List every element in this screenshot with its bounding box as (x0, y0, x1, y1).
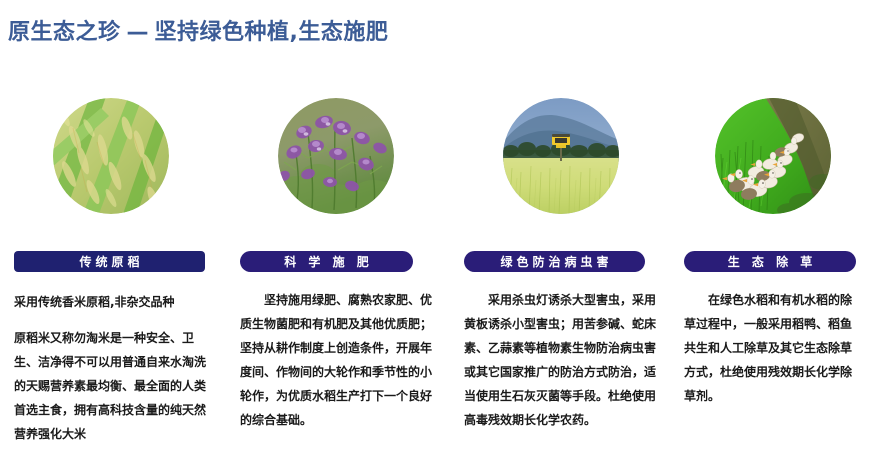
ducks-in-paddy-field-photo (715, 98, 831, 214)
paragraph: 采用传统香米原稻,非杂交品种 (14, 290, 208, 314)
page-title: 原生态之珍—坚持绿色种植,生态施肥 (8, 20, 388, 46)
badge-green-pest-control: 绿色防治病虫害 (464, 251, 645, 272)
feature-column-green-pest-control: 绿色防治病虫害 采用杀虫灯诱杀大型害虫，采用黄板诱杀小型害虫；用苦参碱、蛇床素、… (446, 66, 672, 459)
feature-column-traditional-rice: 传统原稻 采用传统香米原稻,非杂交品种 原稻米又称勿淘米是一种安全、卫生、洁净得… (0, 66, 222, 459)
badge-row: 科 学 施 肥 (240, 246, 432, 276)
badge-row: 传统原稻 (14, 246, 208, 276)
rice-field-insect-lamp-photo (503, 98, 619, 214)
photo-wrap (464, 66, 658, 246)
photo-wrap (14, 66, 208, 246)
badge-row: 绿色防治病虫害 (464, 246, 658, 276)
photo-wrap (240, 66, 432, 246)
body-copy-scientific-fertilizing: 坚持施用绿肥、腐熟农家肥、优质生物菌肥和有机肥及其他优质肥；坚持从耕作制度上创造… (240, 288, 432, 432)
page-title-right: 坚持绿色种植,生态施肥 (155, 20, 389, 45)
body-copy-traditional-rice: 采用传统香米原稻,非杂交品种 原稻米又称勿淘米是一种安全、卫生、洁净得不可以用普… (14, 290, 208, 446)
badge-eco-weeding: 生 态 除 草 (684, 251, 856, 272)
feature-column-scientific-fertilizing: 科 学 施 肥 坚持施用绿肥、腐熟农家肥、优质生物菌肥和有机肥及其他优质肥；坚持… (222, 66, 446, 459)
page-title-dash: — (121, 20, 155, 45)
body-copy-eco-weeding: 在绿色水稻和有机水稻的除草过程中，一般采用稻鸭、稻鱼共生和人工除草及其它生态除草… (684, 288, 862, 408)
page-title-left: 原生态之珍 (8, 20, 121, 45)
photo-wrap (684, 66, 862, 246)
paragraph: 在绿色水稻和有机水稻的除草过程中，一般采用稻鸭、稻鱼共生和人工除草及其它生态除草… (684, 288, 862, 408)
paragraph: 采用杀虫灯诱杀大型害虫，采用黄板诱杀小型害虫；用苦参碱、蛇床素、乙蒜素等植物素生… (464, 288, 658, 432)
purple-vetch-green-manure-photo (278, 98, 394, 214)
badge-row: 生 态 除 草 (684, 246, 862, 276)
badge-scientific-fertilizing: 科 学 施 肥 (240, 251, 413, 272)
body-copy-green-pest-control: 采用杀虫灯诱杀大型害虫，采用黄板诱杀小型害虫；用苦参碱、蛇床素、乙蒜素等植物素生… (464, 288, 658, 432)
paragraph: 原稻米又称勿淘米是一种安全、卫生、洁净得不可以用普通自来水淘洗的天赐营养素最均衡… (14, 326, 208, 446)
feature-column-eco-weeding: 生 态 除 草 在绿色水稻和有机水稻的除草过程中，一般采用稻鸭、稻鱼共生和人工除… (672, 66, 870, 459)
paragraph: 坚持施用绿肥、腐熟农家肥、优质生物菌肥和有机肥及其他优质肥；坚持从耕作制度上创造… (240, 288, 432, 432)
rice-panicle-closeup-photo (53, 98, 169, 214)
feature-columns: 传统原稻 采用传统香米原稻,非杂交品种 原稻米又称勿淘米是一种安全、卫生、洁净得… (0, 66, 870, 459)
badge-traditional-rice: 传统原稻 (14, 251, 205, 272)
